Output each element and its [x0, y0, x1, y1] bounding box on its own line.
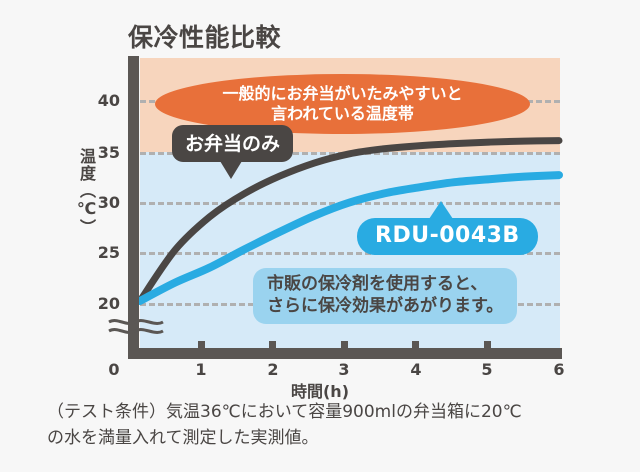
bubble-tail-icon — [220, 161, 242, 179]
x-tick-3 — [341, 341, 348, 349]
x-tick-label-0: 0 — [100, 360, 128, 379]
footnote-line-1: （テスト条件）気温36℃において容量900mlの弁当箱に20℃ — [47, 400, 617, 426]
x-axis — [128, 348, 562, 359]
x-axis-title: 時間(h) — [0, 378, 640, 402]
product-label: RDU-0043B — [357, 218, 538, 255]
x-tick-label-6: 6 — [545, 360, 573, 379]
coolant-note-line2: さらに保冷効果があがります。 — [267, 296, 503, 316]
x-tick-label-1: 1 — [187, 360, 215, 379]
plot-wrapper: 40 35 30 25 20 0 1 2 3 4 5 6 温度（℃） 時間(h)… — [0, 0, 640, 400]
x-tick-label-3: 3 — [330, 360, 358, 379]
footnote: （テスト条件）気温36℃において容量900mlの弁当箱に20℃ の水を満量入れて… — [47, 400, 617, 451]
gridline-30 — [140, 202, 560, 205]
x-tick-label-4: 4 — [402, 360, 430, 379]
axis-break-icon — [108, 316, 164, 338]
x-tick-5 — [484, 341, 491, 349]
footnote-line-2: の水を満量入れて測定した実測値。 — [47, 426, 617, 452]
bento-only-label-text: お弁当のみ — [185, 133, 280, 155]
badge-tail-icon — [429, 201, 453, 219]
danger-band-line2: 言われている温度帯 — [271, 104, 414, 123]
y-axis-title: 温度（℃） — [72, 148, 94, 236]
product-label-text: RDU-0043B — [375, 223, 520, 248]
coolant-note-line1: 市販の保冷剤を使用すると、 — [267, 274, 487, 294]
danger-band-line1: 一般的にお弁当がいたみやすいと — [222, 84, 462, 103]
x-tick-2 — [269, 341, 276, 349]
bento-only-label: お弁当のみ — [172, 125, 293, 162]
x-tick-label-5: 5 — [473, 360, 501, 379]
x-tick-label-2: 2 — [259, 360, 287, 379]
y-axis — [128, 56, 139, 350]
x-tick-1 — [198, 341, 205, 349]
coolant-note: 市販の保冷剤を使用すると、 さらに保冷効果があがります。 — [253, 268, 517, 324]
chart-page: 保冷性能比較 40 35 30 25 — [0, 0, 640, 472]
y-tick-label-40: 40 — [86, 91, 120, 110]
danger-band-callout-text: 一般的にお弁当がいたみやすいと 言われている温度帯 — [222, 84, 462, 123]
y-tick-label-20: 20 — [86, 294, 120, 313]
x-tick-4 — [412, 341, 419, 349]
y-tick-label-25: 25 — [86, 243, 120, 262]
